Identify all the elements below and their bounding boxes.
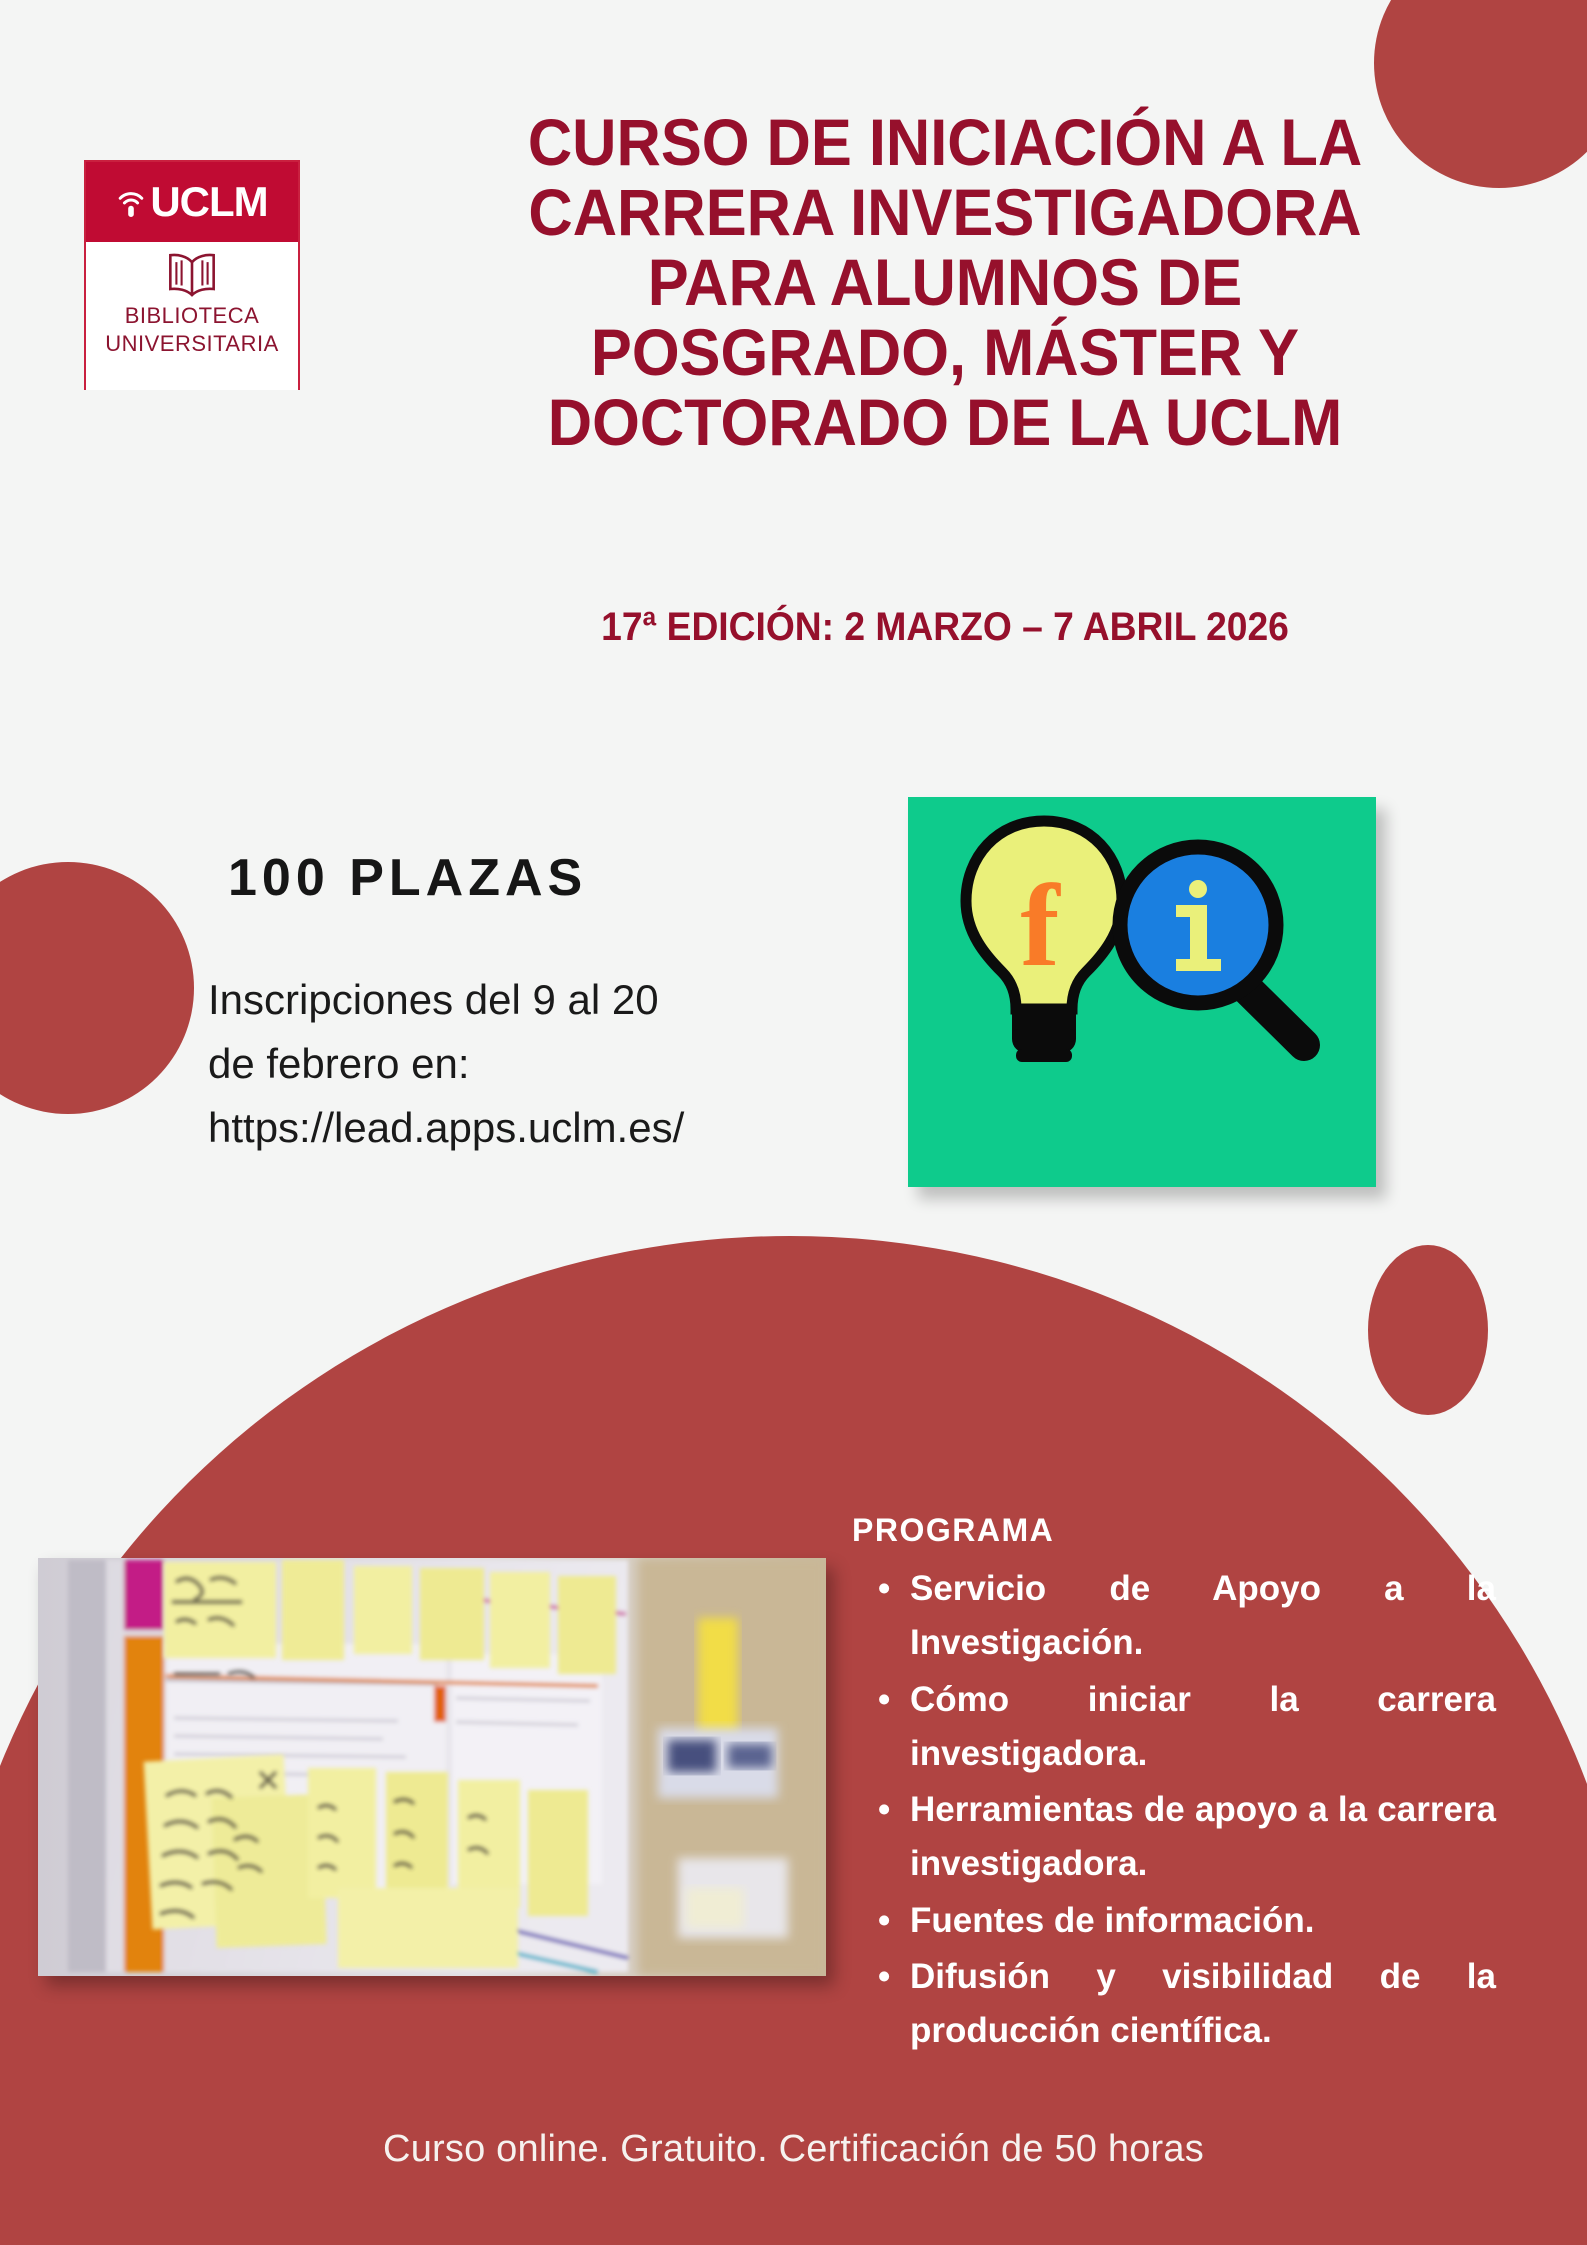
sticky-notes-board-photo bbox=[38, 1558, 826, 1976]
poster-canvas: UCLM BIBLIOTECA UNIVERSITARIA CURSO DE I… bbox=[0, 0, 1587, 2245]
programa-item: Difusión y visibilidad de la producción … bbox=[910, 1950, 1496, 2059]
lightbulb-icon: f bbox=[966, 821, 1122, 1062]
registration-info: Inscripciones del 9 al 20 de febrero en:… bbox=[208, 968, 868, 1159]
footer-note: Curso online. Gratuito. Certificación de… bbox=[0, 2128, 1587, 2171]
headline-line-4: POSGRADO, MÁSTER Y bbox=[466, 318, 1424, 388]
registration-url[interactable]: https://lead.apps.uclm.es/ bbox=[208, 1096, 868, 1160]
registration-line-1: Inscripciones del 9 al 20 bbox=[208, 968, 868, 1032]
programa-item: Servicio de Apoyo a la Investigación. bbox=[910, 1562, 1496, 1671]
headline-line-5: DOCTORADO DE LA UCLM bbox=[466, 388, 1424, 458]
idea-info-graphic: f bbox=[908, 797, 1376, 1187]
poster-headline: CURSO DE INICIACIÓN A LA CARRERA INVESTI… bbox=[466, 108, 1424, 458]
logo-brand-text: UCLM bbox=[150, 178, 267, 226]
uclm-library-logo: UCLM BIBLIOTECA UNIVERSITARIA bbox=[84, 160, 300, 390]
programa-item: Herramientas de apoyo a la carrera inves… bbox=[910, 1783, 1496, 1892]
headline-line-2: CARRERA INVESTIGADORA bbox=[466, 178, 1424, 248]
logo-brand-bar: UCLM bbox=[86, 162, 298, 242]
programa-heading: PROGRAMA bbox=[852, 1512, 1054, 1549]
programa-item: Cómo iniciar la carrera investigadora. bbox=[910, 1673, 1496, 1782]
board-photo-illustration bbox=[38, 1558, 826, 1976]
programa-list: Servicio de Apoyo a la Investigación. Có… bbox=[872, 1562, 1496, 2060]
bulb-letter-f: f bbox=[1020, 860, 1061, 991]
logo-library-line-1: BIBLIOTECA bbox=[125, 302, 260, 330]
seats-count: 100 PLAZAS bbox=[228, 848, 587, 908]
decorative-circle-left bbox=[0, 862, 194, 1114]
magnifying-glass-info-icon bbox=[1120, 847, 1304, 1045]
headline-line-3: PARA ALUMNOS DE bbox=[466, 248, 1424, 318]
programa-item: Fuentes de información. bbox=[910, 1894, 1496, 1948]
logo-library-block: BIBLIOTECA UNIVERSITARIA bbox=[86, 242, 298, 390]
headline-line-1: CURSO DE INICIACIÓN A LA bbox=[466, 108, 1424, 178]
edition-dates: 17ª EDICIÓN: 2 MARZO – 7 ABRIL 2026 bbox=[466, 605, 1424, 650]
wifi-signal-icon bbox=[116, 187, 146, 217]
decorative-circle-right-small bbox=[1368, 1245, 1488, 1415]
idea-info-illustration: f bbox=[908, 797, 1376, 1187]
registration-line-2: de febrero en: bbox=[208, 1032, 868, 1096]
open-book-icon bbox=[164, 250, 220, 302]
logo-library-line-2: UNIVERSITARIA bbox=[105, 330, 279, 358]
